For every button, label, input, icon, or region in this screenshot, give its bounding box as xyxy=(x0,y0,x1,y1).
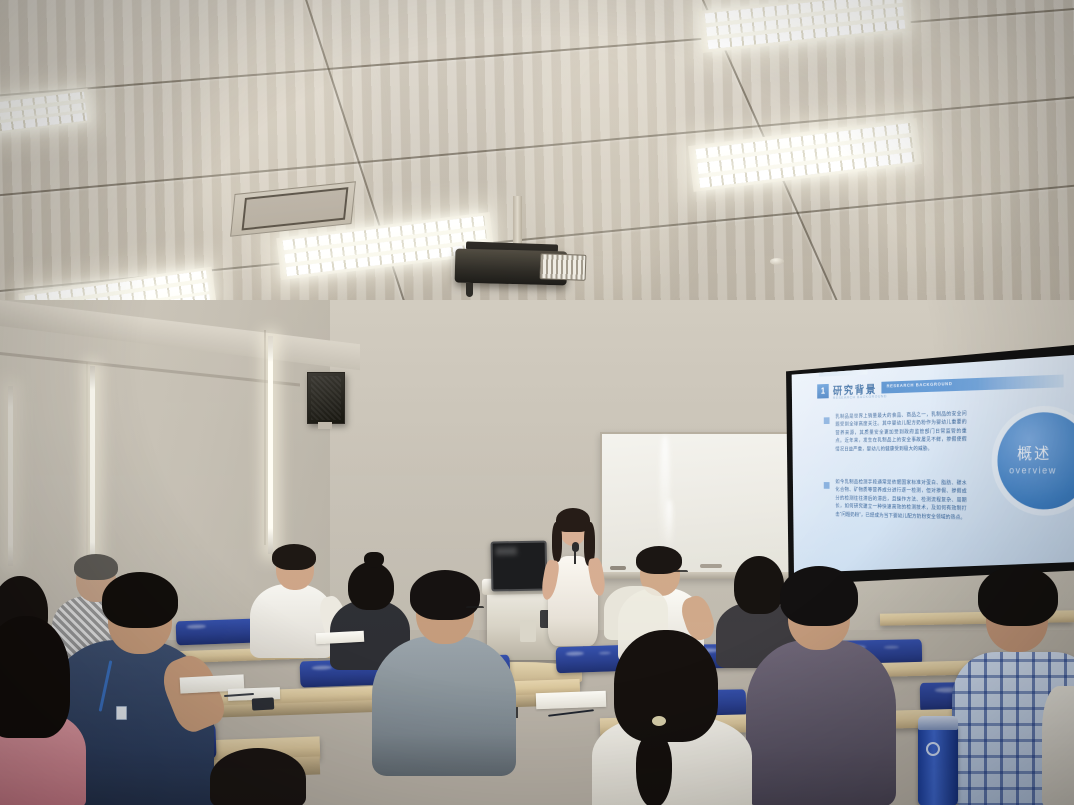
water-bottle[interactable] xyxy=(918,722,958,805)
pen xyxy=(548,709,594,717)
eyeglasses xyxy=(672,570,688,575)
smartphone xyxy=(252,697,275,710)
audience-torso xyxy=(746,640,896,805)
projection-screen[interactable]: 1 研究背景 RESEARCH BACKGROUND RESEARCH BACK… xyxy=(790,355,1074,573)
overview-badge-en: overview xyxy=(1009,465,1057,476)
presenter-hair xyxy=(552,522,562,562)
audience-hair xyxy=(102,572,178,628)
audience-ponytail xyxy=(636,734,672,805)
presentation-slide: 1 研究背景 RESEARCH BACKGROUND RESEARCH BACK… xyxy=(812,355,1074,573)
lectern-monitor[interactable] xyxy=(491,541,548,592)
slide-bullet-marker xyxy=(824,482,830,489)
wall-speaker xyxy=(307,372,345,424)
microphone-body xyxy=(574,550,576,564)
slide-header: 1 研究背景 RESEARCH BACKGROUND RESEARCH BACK… xyxy=(817,373,1070,402)
bottle-logo xyxy=(926,742,940,756)
id-badge xyxy=(116,706,127,720)
audience-hair-bun xyxy=(364,552,384,568)
smoke-detector-icon xyxy=(770,258,784,265)
audience-torso xyxy=(372,636,516,776)
slide-bullet-marker xyxy=(824,417,830,424)
speaker-bracket xyxy=(318,422,332,429)
wall-seam xyxy=(86,362,88,562)
audience-hair xyxy=(348,562,394,610)
classroom-photo: 1 研究背景 RESEARCH BACKGROUND RESEARCH BACK… xyxy=(0,0,1074,805)
audience-torso xyxy=(1042,686,1074,805)
lectern-papers xyxy=(520,620,536,642)
audience-hair xyxy=(410,570,480,620)
papers xyxy=(536,691,607,709)
wall-seam xyxy=(264,330,266,545)
eyeglasses xyxy=(466,606,484,611)
slide-paragraph-1: 乳制品是世界上销量最大的食品、商品之一，乳制品的安全问题受到全球高度关注。其中婴… xyxy=(835,410,966,454)
slide-paragraph-2: 如今乳制品检测手段通常是依据国家标准对蛋白、脂肪、碳水化合物、矿物质等营养成分进… xyxy=(835,478,966,522)
projector-mount-pole xyxy=(513,196,522,248)
projector-hook xyxy=(466,283,473,297)
slide-title-bar-text: RESEARCH BACKGROUND xyxy=(887,381,953,388)
chair[interactable] xyxy=(176,619,255,646)
audience-hair xyxy=(614,630,718,742)
whiteboard-marker xyxy=(700,564,722,568)
audience-hair xyxy=(780,566,858,626)
projector-vent xyxy=(540,253,587,281)
audience-hair xyxy=(978,566,1058,626)
slide-title-bar: RESEARCH BACKGROUND xyxy=(881,375,1063,394)
wall-light-strip xyxy=(90,366,95,566)
audience-hair xyxy=(74,554,118,580)
whiteboard-marker xyxy=(610,566,626,570)
overview-badge: 概述 overview xyxy=(997,411,1074,510)
wall-light-strip xyxy=(268,336,273,554)
wall-light-strip xyxy=(8,386,13,566)
slide-section-number: 1 xyxy=(817,384,829,399)
audience-hair xyxy=(210,748,306,805)
audience-hair xyxy=(272,544,316,570)
overview-badge-cn: 概述 xyxy=(1017,442,1051,464)
bottle-cap[interactable] xyxy=(918,716,958,730)
hair-tie xyxy=(652,716,666,726)
slide-title-en: RESEARCH BACKGROUND xyxy=(833,393,887,400)
